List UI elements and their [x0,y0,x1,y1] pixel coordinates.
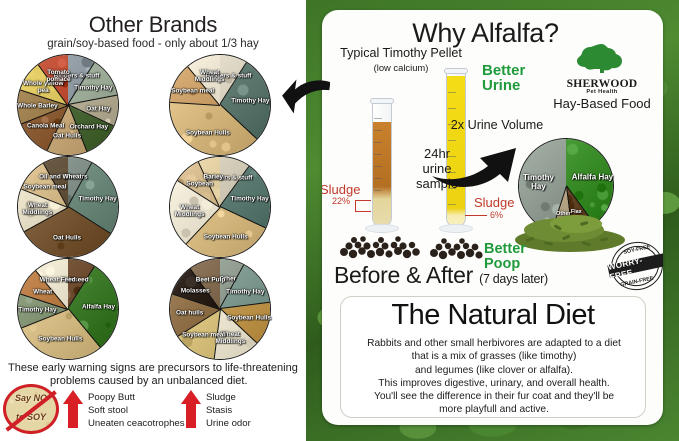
before-after-note: (7 days later) [479,272,548,286]
infographic-root: Other Brands grain/soy-based food - only… [0,0,679,441]
pie-chart-6: OtherTimothy HaySoybean HullsWheat Middl… [160,258,280,360]
diet-body-line: Rabbits and other small herbivores are a… [347,337,641,350]
pie-chart-1: Binders & stuffTimothy HayOat HayOrchard… [8,54,128,156]
brand-product: Hay-Based Food [546,96,658,111]
pie-wrap: BindersTimothy HayOat HullsWheat Middlin… [17,156,119,258]
diet-body-line: and legumes (like clover or alfalfa). [347,364,641,377]
diet-body-line: This improves digestive, urinary, and ov… [347,377,641,390]
arrow-stem [186,402,196,428]
pie-wrap: OtherTimothy HaySoybean HullsWheat Middl… [169,258,271,360]
better-urine-label: Better Urine [482,63,562,93]
sludge-right-brace [465,206,487,216]
red-arrow-up-left [63,390,83,428]
pie-slice [18,55,118,155]
pie-body [17,156,119,258]
pie-body [17,54,119,156]
pie-body [17,258,119,360]
tree-icon [570,40,634,76]
symptom-item: Urine odor [206,417,251,430]
diet-body-line: You'll see the difference in their fur c… [347,390,641,403]
pie-slice [170,157,270,257]
red-arrow-up-right [181,390,201,428]
pellet-label-main: Typical Timothy Pellet [340,46,462,60]
left-panel-subtitle: grain/soy-based food - only about 1/3 ha… [0,38,306,50]
better-urine-line-1: Better [482,63,562,78]
pie-wrap: Binders & stuffTimothy HaySoybean HullsW… [169,156,271,258]
poop-sample-after [428,236,486,262]
sludge-left-brace [355,200,371,212]
tube-lip [444,68,468,74]
pie-slice [170,259,270,359]
symptom-item: Sludge [206,391,251,404]
right-panel-why-alfalfa: Why Alfalfa? Typical Timothy Pellet (low… [306,0,679,441]
sherwood-logo: SHERWOOD Pet Health Hay-Based Food [546,40,658,111]
symptom-item: Poopy Butt [88,391,185,404]
pie-wrap: LinseedAlfalfa HaySoybean HullsTimothy H… [17,258,119,360]
before-after-heading: Before & After (7 days later) [334,262,654,289]
transition-arrow-icon [282,75,330,121]
pie-slice [170,55,270,155]
tube-lip [370,98,394,104]
poop-sample-before [336,234,430,260]
sludge-left-value: 22% [332,196,350,206]
other-brands-pie-grid: Binders & stuffTimothy HayOat HayOrchard… [8,54,300,360]
curved-arrow-icon [430,130,522,190]
pie-slice [18,157,118,257]
say-no-to-soy-icon: Say NO to SOY [3,384,59,434]
pie-body [169,156,271,258]
symptom-item: Uneaten ceacotrophes [88,417,185,430]
sludge-right-value: 6% [490,210,503,220]
sludge-left-label: Sludge [322,182,360,197]
tube-fluid-amber [373,122,391,226]
tube-base [439,224,473,233]
symptom-item: Soft stool [88,404,185,417]
white-card: Why Alfalfa? Typical Timothy Pellet (low… [322,10,663,425]
diet-body-line: more playfull and active. [347,403,641,416]
natural-diet-title: The Natural Diet [341,299,645,332]
pie-slice [18,259,118,359]
warning-line-1: These early warning signs are precursors… [4,362,304,375]
pie-slice-label: Alfalfa Hay [571,173,613,182]
left-panel-other-brands: Other Brands grain/soy-based food - only… [0,0,306,441]
left-panel-title: Other Brands [0,12,306,38]
natural-diet-body: Rabbits and other small herbivores are a… [347,337,641,417]
tube-glass [372,102,392,227]
pie-body [169,54,271,156]
better-poop-line-1: Better [484,242,564,257]
before-after-text: Before & After [334,262,473,288]
diet-body-line: that is a mix of grasses (like timothy) [347,350,641,363]
tube-base [365,224,399,233]
brand-tagline: Pet Health [546,89,658,95]
pie-wrap: Binders & stuffTimothy HaySoybean HullsS… [169,54,271,156]
urine-tube-before [372,102,392,227]
symptom-item: Stasis [206,404,251,417]
pie-chart-3: BindersTimothy HayOat HullsWheat Middlin… [8,156,128,258]
pie-wrap: Binders & stuffTimothy HayOat HayOrchard… [17,54,119,156]
arrow-stem [68,402,78,428]
pie-chart-5: LinseedAlfalfa HaySoybean HullsTimothy H… [8,258,128,360]
pie-chart-4: Binders & stuffTimothy HaySoybean HullsW… [160,156,280,258]
symptoms-list-right: SludgeStasisUrine odor [206,391,251,430]
better-urine-line-2: Urine [482,78,562,93]
pie-slice-label: Timothy Hay [518,173,560,191]
pie-chart-2: Binders & stuffTimothy HaySoybean HullsS… [160,54,280,156]
pie-body [169,258,271,360]
natural-diet-box: The Natural Diet Rabbits and other small… [340,296,646,418]
symptoms-list-left: Poopy ButtSoft stoolUneaten ceacotrophes [88,391,185,430]
